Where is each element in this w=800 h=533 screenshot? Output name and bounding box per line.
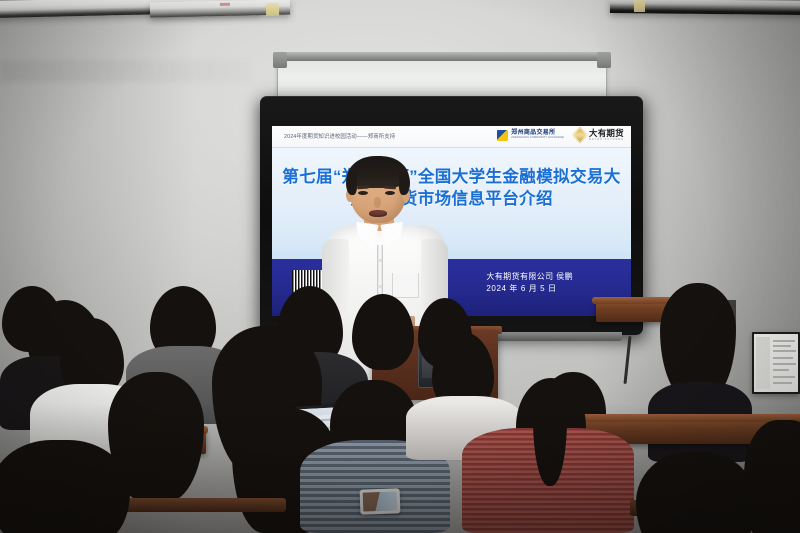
notice-column-block xyxy=(756,337,770,389)
presenter-nose xyxy=(374,197,381,208)
audience-head xyxy=(0,440,130,533)
presenter-shirt-button xyxy=(379,259,382,262)
dayou-logo-cn: 大有期货 xyxy=(589,129,624,138)
presenter-shirt-pocket xyxy=(392,273,419,298)
dayou-logo-en: DAYOU FUTURES xyxy=(589,139,624,142)
roller-marking xyxy=(220,3,230,6)
czce-logo: 郑州商品交易所 ZHENGZHOU COMMODITY EXCHANGE xyxy=(497,130,564,141)
audience-head xyxy=(636,452,756,533)
whiteboard-bracket-left xyxy=(273,52,287,68)
dayou-logo: 大有期货 DAYOU FUTURES xyxy=(574,129,624,141)
wall-mounted-notice-frame xyxy=(752,332,800,394)
desk-edge xyxy=(552,414,800,422)
notice-text-line xyxy=(773,369,789,371)
whiteboard-top-rail xyxy=(275,52,609,61)
smartphone-screen[interactable] xyxy=(363,491,398,511)
notice-text-line xyxy=(773,376,795,378)
notice-paper xyxy=(754,334,798,392)
lecture-hall-scene: 2024年度期货知识进校园活动——郑商所支持 郑州商品交易所 ZHENGZHOU… xyxy=(0,0,800,533)
roller-end-cap-right xyxy=(634,0,645,12)
dayou-logo-mark-icon xyxy=(572,127,589,144)
presenter-hair-side-left xyxy=(346,171,357,195)
smartphone[interactable] xyxy=(360,488,401,514)
presenter-mouth xyxy=(369,210,387,217)
presenter-shirt-button xyxy=(379,285,382,288)
slide-footer-text: 大有期货有限公司 侯鹏 2024 年 6 月 5 日 xyxy=(486,271,573,296)
presenter-hair-side-right xyxy=(399,171,410,195)
date-line: 2024 年 6 月 5 日 xyxy=(486,283,573,295)
czce-logo-mark-icon xyxy=(497,130,508,141)
notice-text-line xyxy=(773,363,796,365)
audience-head xyxy=(744,420,800,533)
czce-logo-en: ZHENGZHOU COMMODITY EXCHANGE xyxy=(511,137,564,140)
slide-logo-row: 郑州商品交易所 ZHENGZHOU COMMODITY EXCHANGE 大有期… xyxy=(497,129,624,141)
notice-text-line xyxy=(773,345,791,347)
presenter-line: 大有期货有限公司 侯鹏 xyxy=(486,271,573,283)
whiteboard-bracket-right xyxy=(597,52,611,68)
notice-text-line xyxy=(773,350,796,352)
slide-kicker-text: 2024年度期货知识进校园活动——郑商所支持 xyxy=(284,132,395,140)
notice-text-line xyxy=(773,340,795,342)
notice-text-line xyxy=(773,382,792,384)
presenter-eye-left xyxy=(358,191,368,195)
notice-text-line xyxy=(773,357,793,359)
presenter-eye-right xyxy=(385,191,395,195)
roller-end-cap-left xyxy=(266,3,279,16)
